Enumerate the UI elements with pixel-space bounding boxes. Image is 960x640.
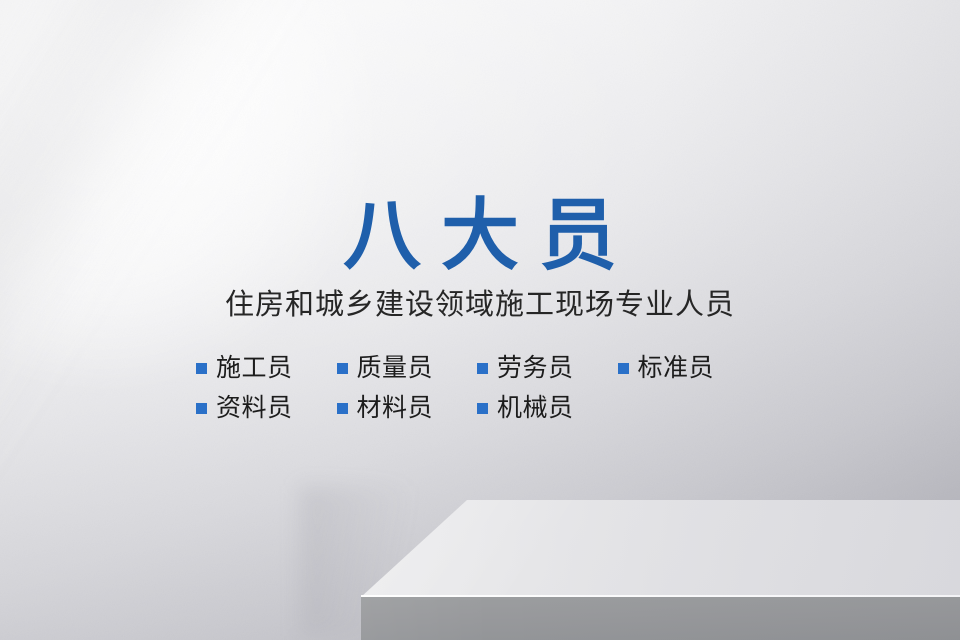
list-item[interactable]: 质量员 xyxy=(337,353,434,383)
role-row: 资料员 材料员 机械员 xyxy=(196,388,796,428)
square-bullet-icon xyxy=(337,363,348,374)
role-list: 施工员 质量员 劳务员 标准员 资料员 xyxy=(196,348,796,428)
role-row: 施工员 质量员 劳务员 标准员 xyxy=(196,348,796,388)
podium xyxy=(0,470,960,640)
role-label: 劳务员 xyxy=(497,353,574,383)
square-bullet-icon xyxy=(337,403,348,414)
role-label: 施工员 xyxy=(216,353,293,383)
page-subtitle: 住房和城乡建设领域施工现场专业人员 xyxy=(0,287,960,323)
square-bullet-icon xyxy=(196,403,207,414)
podium-front-shading xyxy=(361,597,960,640)
list-item[interactable]: 机械员 xyxy=(477,393,574,423)
poster-content: 八大员 住房和城乡建设领域施工现场专业人员 施工员 质量员 劳务员 xyxy=(0,0,960,470)
role-label: 机械员 xyxy=(497,393,574,423)
list-item[interactable]: 施工员 xyxy=(196,353,293,383)
list-item[interactable]: 资料员 xyxy=(196,393,293,423)
poster-canvas: 八大员 住房和城乡建设领域施工现场专业人员 施工员 质量员 劳务员 xyxy=(0,0,960,640)
square-bullet-icon xyxy=(477,403,488,414)
square-bullet-icon xyxy=(196,363,207,374)
list-item[interactable]: 材料员 xyxy=(337,393,434,423)
list-item[interactable]: 标准员 xyxy=(618,353,715,383)
podium-top-sheen xyxy=(0,470,960,600)
role-label: 标准员 xyxy=(638,353,715,383)
square-bullet-icon xyxy=(618,363,629,374)
role-label: 材料员 xyxy=(357,393,434,423)
role-label: 资料员 xyxy=(216,393,293,423)
role-label: 质量员 xyxy=(357,353,434,383)
page-title: 八大员 xyxy=(0,192,960,278)
square-bullet-icon xyxy=(477,363,488,374)
list-item[interactable]: 劳务员 xyxy=(477,353,574,383)
